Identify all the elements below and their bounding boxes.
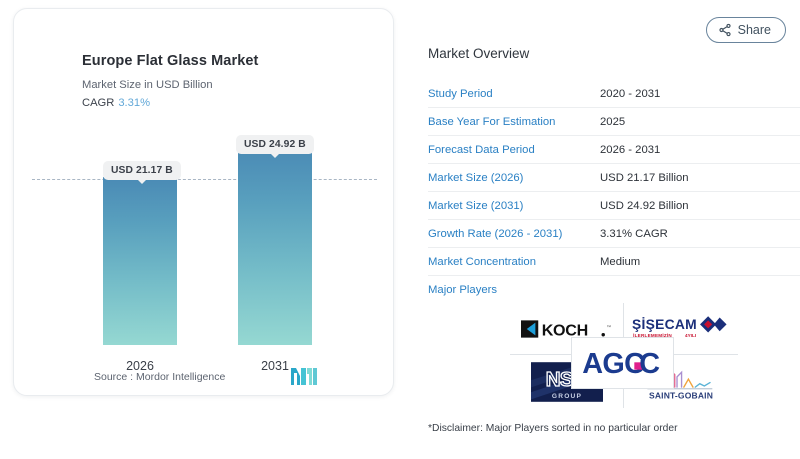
share-label: Share — [738, 23, 771, 37]
mordor-intelligence-logo — [291, 368, 317, 385]
row-label: Market Size (2031) — [428, 200, 600, 212]
svg-text:SAINT-GOBAIN: SAINT-GOBAIN — [649, 390, 713, 400]
chart-card: Europe Flat Glass Market Market Size in … — [13, 8, 394, 396]
market-overview-table: Study Period 2020 - 2031 Base Year For E… — [428, 80, 800, 304]
table-row: Study Period 2020 - 2031 — [428, 80, 800, 108]
row-label: Study Period — [428, 88, 600, 100]
row-label: Growth Rate (2026 - 2031) — [428, 228, 600, 240]
market-overview-title: Market Overview — [428, 46, 529, 61]
svg-text:4YILI: 4YILI — [685, 333, 696, 338]
table-row: Forecast Data Period 2026 - 2031 — [428, 136, 800, 164]
bar-value-label-2026: USD 21.17 B — [103, 161, 181, 180]
row-label: Market Concentration — [428, 256, 600, 268]
row-value: 2026 - 2031 — [600, 144, 660, 156]
share-icon — [718, 23, 732, 37]
market-report-page: Europe Flat Glass Market Market Size in … — [0, 0, 800, 459]
table-row: Market Size (2026) USD 21.17 Billion — [428, 164, 800, 192]
player-logo-agc: AGC AGC C — [571, 337, 674, 389]
svg-text:™: ™ — [606, 324, 611, 329]
disclaimer-text: *Disclaimer: Major Players sorted in no … — [428, 423, 678, 434]
row-label: Forecast Data Period — [428, 144, 600, 156]
row-value: USD 24.92 Billion — [600, 200, 689, 212]
row-value: 3.31% CAGR — [600, 228, 668, 240]
table-row: Market Size (2031) USD 24.92 Billion — [428, 192, 800, 220]
bar-2026 — [103, 177, 177, 345]
svg-text:C: C — [639, 348, 660, 380]
table-row: Growth Rate (2026 - 2031) 3.31% CAGR — [428, 220, 800, 248]
row-value: 2025 — [600, 116, 625, 128]
svg-text:GROUP: GROUP — [551, 393, 581, 400]
svg-text:ŞİŞECAM: ŞİŞECAM — [632, 316, 697, 332]
share-button[interactable]: Share — [706, 17, 786, 43]
major-players-logo-grid: KOCH ™ ŞİŞECAM İLERLEMEMİZİN 4YILI — [510, 303, 738, 408]
row-value: 2020 - 2031 — [600, 88, 660, 100]
bar-2031 — [238, 148, 312, 345]
table-row: Market Concentration Medium — [428, 248, 800, 276]
bar-chart-plot: USD 21.17 B USD 24.92 B 2026 2031 — [14, 9, 395, 397]
reference-dashed-line — [32, 179, 377, 180]
row-value: USD 21.17 Billion — [600, 172, 689, 184]
market-overview-panel: Share Market Overview Study Period 2020 … — [414, 0, 800, 459]
table-row: Base Year For Estimation 2025 — [428, 108, 800, 136]
source-text: Source : Mordor Intelligence — [94, 371, 225, 383]
row-label: Market Size (2026) — [428, 172, 600, 184]
row-label: Base Year For Estimation — [428, 116, 600, 128]
table-row-major-players: Major Players — [428, 276, 800, 304]
row-value: Medium — [600, 256, 640, 268]
major-players-label: Major Players — [428, 284, 600, 296]
bar-value-label-2031: USD 24.92 B — [236, 135, 314, 154]
agc-logo: AGC AGC C — [581, 346, 665, 380]
